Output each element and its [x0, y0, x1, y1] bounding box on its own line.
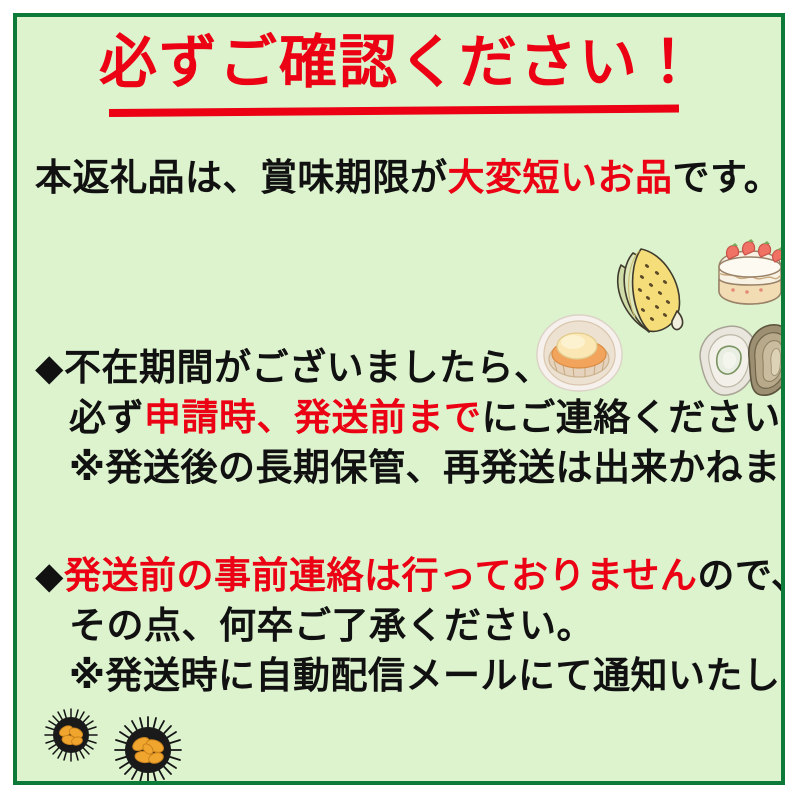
- notice-card: 必ずご確認ください！ 本返礼品は、賞味期限が大変短いお品です。 ◆不在期間がござ…: [13, 13, 785, 785]
- lead-part3: です。: [673, 157, 782, 198]
- bullet-2-line-3: ※発送時に自動配信メールにて通知いたします。: [69, 655, 785, 696]
- sea-urchin-illustration: [113, 715, 183, 785]
- bullet-1-line-2-highlight: 申請時、発送前まで: [144, 397, 482, 438]
- lead-part1: 本返礼品は、賞味期限が: [35, 157, 448, 198]
- lead-highlight: 大変短いお品: [448, 157, 673, 198]
- lead-sentence: 本返礼品は、賞味期限が大変短いお品です。: [35, 157, 781, 198]
- bullet-2-line-1: ◆発送前の事前連絡は行っておりませんので、: [35, 555, 785, 596]
- scallop-illustration: [529, 309, 629, 397]
- strawberry-cake-illustration: [709, 233, 785, 313]
- sea-urchin-illustration: [43, 707, 99, 763]
- oyster-illustration: [693, 317, 785, 401]
- bullet-1-line-2: 必ず申請時、発送前までにご連絡ください。: [69, 397, 785, 438]
- bullet-2-line-1-suffix: ので、: [697, 555, 785, 596]
- bullet-1-line-2-suffix: にご連絡ください。: [482, 397, 786, 438]
- title-underline: [109, 105, 679, 117]
- diamond-bullet-icon: ◆: [35, 347, 64, 388]
- bullet-2-line-2: その点、何卒ご了承ください。: [69, 605, 594, 646]
- bullet-1-line-1-text: 不在期間がございましたら、: [64, 347, 552, 388]
- diamond-bullet-icon: ◆: [35, 555, 64, 596]
- bullet-1-line-1: ◆不在期間がございましたら、: [35, 347, 551, 388]
- page-title: 必ずご確認ください！: [17, 33, 781, 94]
- bullet-1-line-3: ※発送後の長期保管、再発送は出来かねます。: [69, 447, 785, 488]
- title-block: 必ずご確認ください！: [17, 33, 781, 94]
- bullet-1-line-2-prefix: 必ず: [69, 397, 144, 438]
- bullet-2-line-1-highlight: 発送前の事前連絡は行っておりません: [64, 555, 697, 596]
